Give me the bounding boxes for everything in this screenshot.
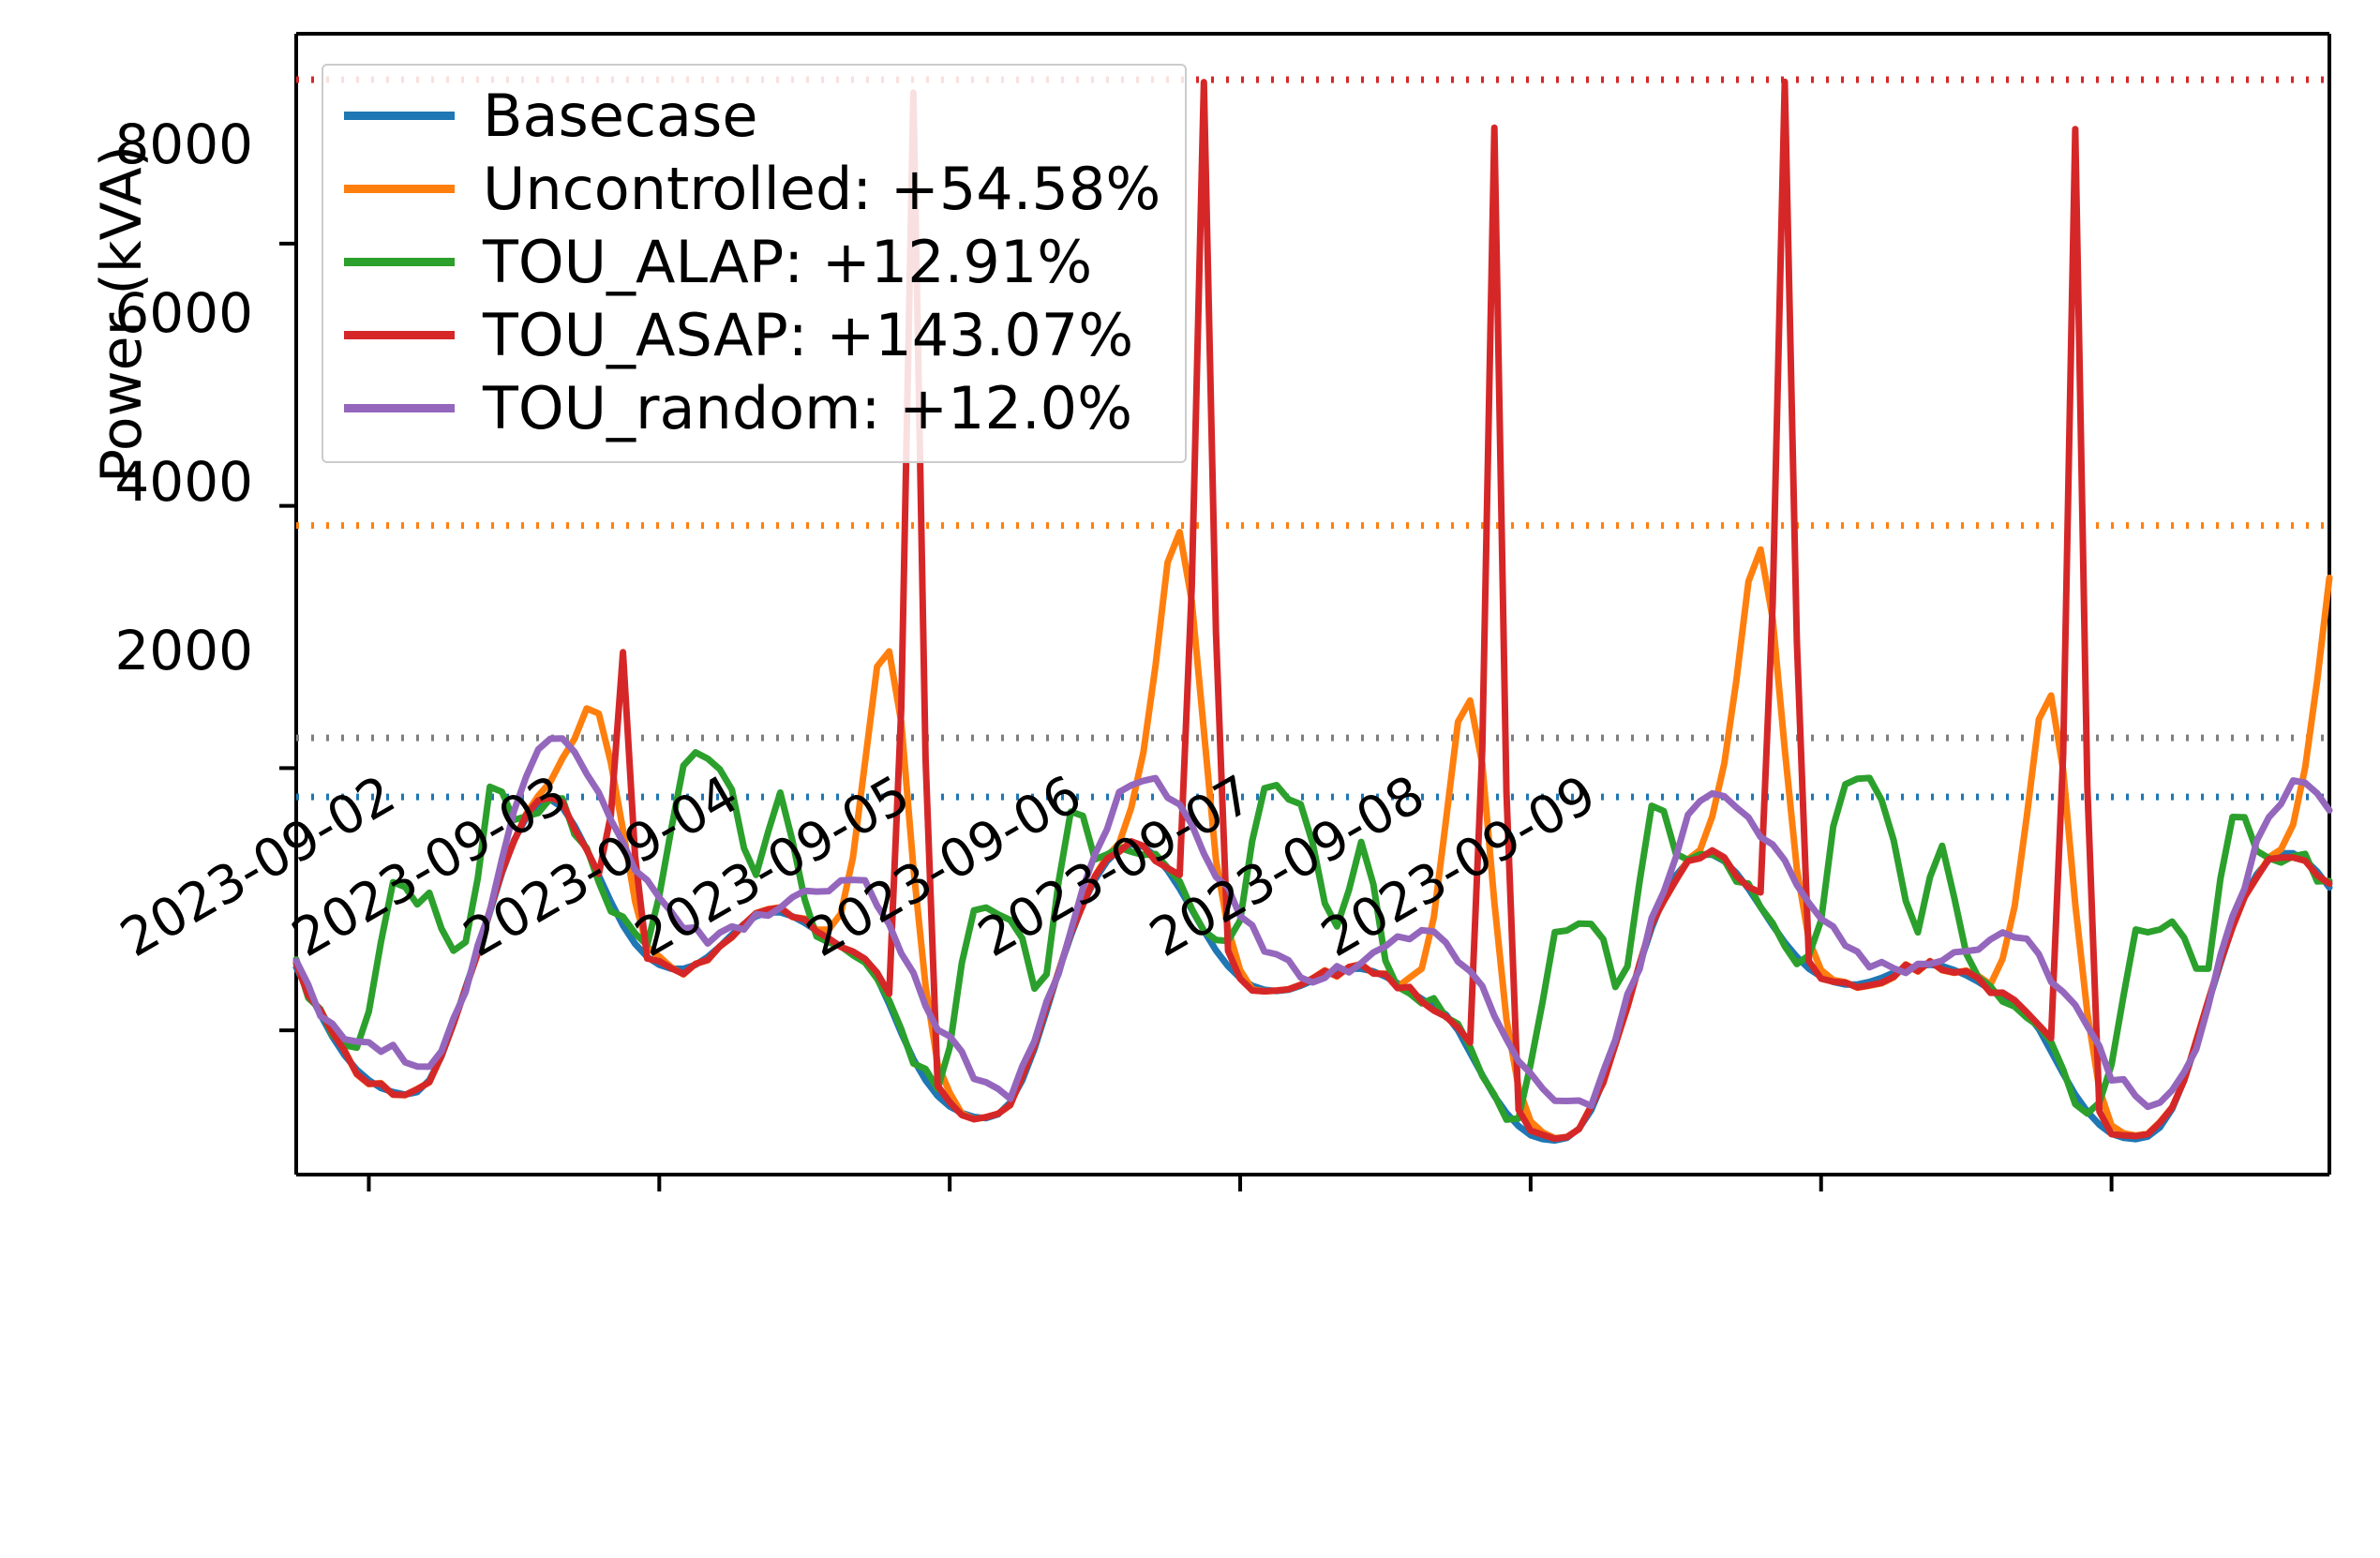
legend-label-uncontrolled: Uncontrolled: +54.58% xyxy=(483,155,1160,223)
legend-item-tou-asap[interactable]: TOU_ASAP: +143.07% xyxy=(344,298,1160,371)
legend-swatch-tou-alap xyxy=(344,258,455,266)
legend-label-tou-asap: TOU_ASAP: +143.07% xyxy=(483,301,1133,369)
y-tick-label-2000: 2000 xyxy=(19,619,253,682)
power-profile-figure: Power (kVA) 8000 6000 4000 2000 2023-09-… xyxy=(0,0,2380,1558)
legend-item-tou-alap[interactable]: TOU_ALAP: +12.91% xyxy=(344,225,1160,298)
y-tick-label-6000: 6000 xyxy=(19,281,253,345)
legend-label-basecase: Basecase xyxy=(483,82,758,150)
legend-item-basecase[interactable]: Basecase xyxy=(344,79,1160,152)
legend-swatch-basecase xyxy=(344,112,455,120)
legend-swatch-tou-asap xyxy=(344,331,455,339)
legend-item-uncontrolled[interactable]: Uncontrolled: +54.58% xyxy=(344,152,1160,225)
y-tick-label-4000: 4000 xyxy=(19,450,253,514)
legend-label-tou-random: TOU_random: +12.0% xyxy=(483,374,1132,442)
y-tick-label-8000: 8000 xyxy=(19,112,253,176)
legend-item-tou-random[interactable]: TOU_random: +12.0% xyxy=(344,371,1160,444)
chart-legend: Basecase Uncontrolled: +54.58% TOU_ALAP:… xyxy=(322,64,1187,463)
legend-swatch-uncontrolled xyxy=(344,185,455,193)
legend-label-tou-alap: TOU_ALAP: +12.91% xyxy=(483,228,1092,296)
legend-swatch-tou-random xyxy=(344,404,455,412)
